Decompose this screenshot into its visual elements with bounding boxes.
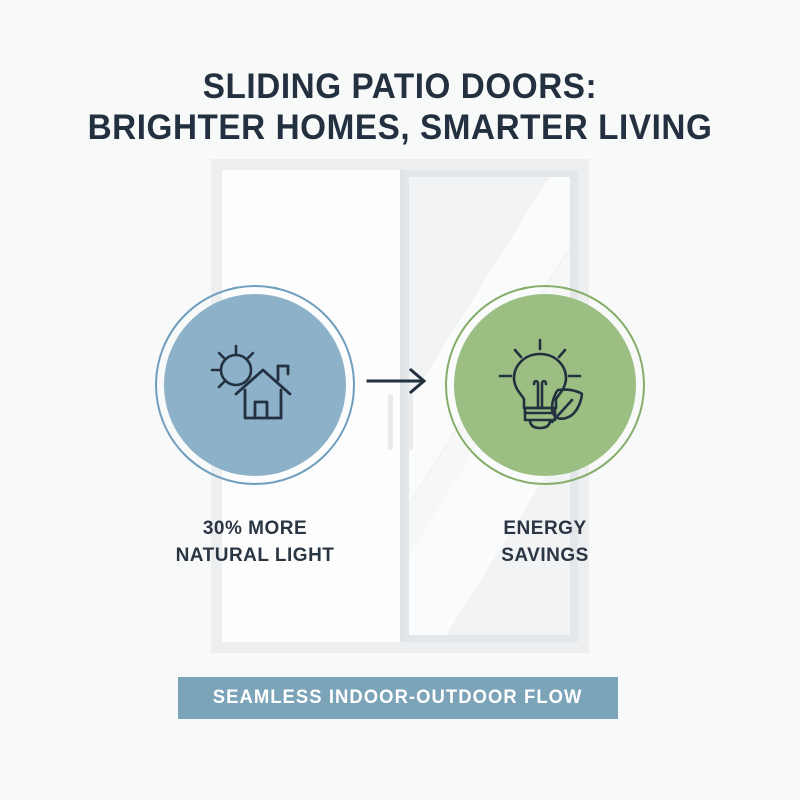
- feature-energy-savings: ENERGY SAVINGS: [445, 285, 645, 569]
- door-center-stile: [400, 170, 404, 642]
- page-title: SLIDING PATIO DOORS: BRIGHTER HOMES, SMA…: [0, 66, 800, 148]
- feature-label-line-2: SAVINGS: [445, 542, 645, 569]
- feature-label-line-2: NATURAL LIGHT: [155, 542, 355, 569]
- feature-circle: [445, 285, 645, 485]
- feature-label: ENERGY SAVINGS: [445, 515, 645, 569]
- circle-fill: [454, 294, 636, 476]
- feature-natural-light: 30% MORE NATURAL LIGHT: [155, 285, 355, 569]
- sun-house-icon: [200, 328, 310, 443]
- title-line-2: BRIGHTER HOMES, SMARTER LIVING: [20, 107, 780, 148]
- feature-label-line-1: ENERGY: [445, 515, 645, 542]
- infographic-poster: SLIDING PATIO DOORS: BRIGHTER HOMES, SMA…: [0, 0, 800, 800]
- title-line-1: SLIDING PATIO DOORS:: [20, 66, 780, 107]
- feature-label: 30% MORE NATURAL LIGHT: [155, 515, 355, 569]
- bottom-banner: SEAMLESS INDOOR-OUTDOOR FLOW: [178, 677, 618, 719]
- door-handle-bar: [388, 394, 393, 450]
- circle-fill: [164, 294, 346, 476]
- arrow-right-icon: [366, 366, 428, 396]
- banner-text: SEAMLESS INDOOR-OUTDOOR FLOW: [213, 687, 583, 709]
- feature-label-line-1: 30% MORE: [155, 515, 355, 542]
- feature-circle: [155, 285, 355, 485]
- door-handle-bar: [408, 394, 413, 450]
- lightbulb-leaf-icon: [490, 328, 600, 443]
